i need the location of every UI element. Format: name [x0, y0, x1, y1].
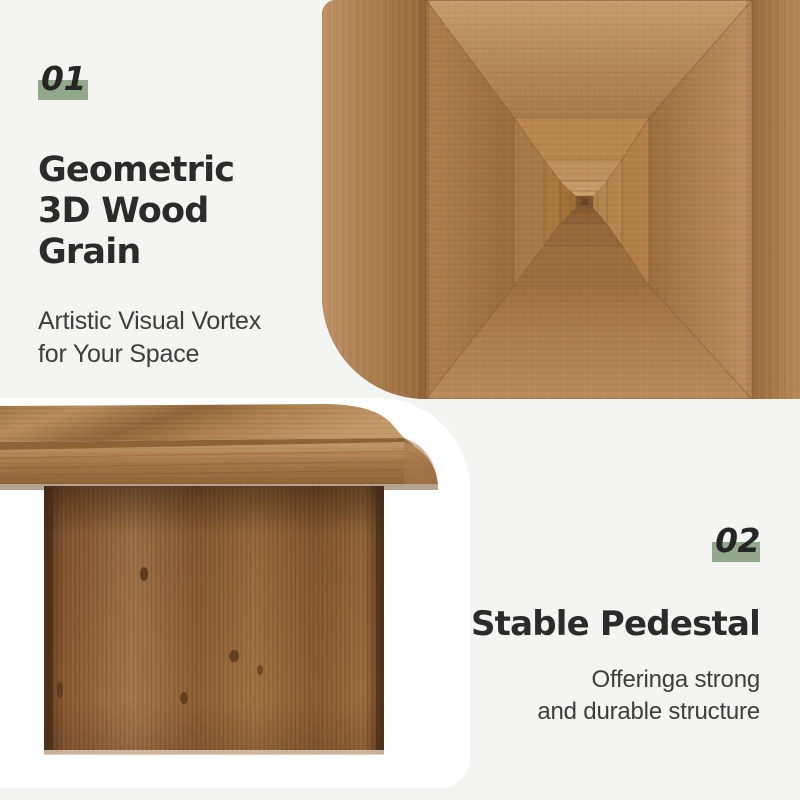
- feature-01-subtitle-line2: for Your Space: [38, 340, 199, 368]
- feature-02-number-badge: 02: [712, 520, 760, 568]
- feature-02-number: 02: [712, 520, 760, 562]
- geometric-wood-grain-panel-photo: [322, 0, 800, 399]
- pedestal-base-table-photo: [0, 398, 470, 788]
- feature-01-text-block: 01 Geometric 3D Wood Grain Artistic Visu…: [38, 58, 318, 371]
- feature-02-title-line1: Stable Pedestal: [471, 604, 760, 644]
- feature-01-title-line1: Geometric: [38, 150, 234, 190]
- feature-02-subtitle-line1: Offeringa strong: [592, 666, 760, 693]
- wood-vortex-illustration: [322, 0, 800, 399]
- promo-page: 01 Geometric 3D Wood Grain Artistic Visu…: [0, 0, 800, 800]
- feature-01-subtitle: Artistic Visual Vortex for Your Space: [38, 305, 318, 371]
- feature-02-subtitle: Offeringa strong and durable structure: [450, 664, 760, 728]
- feature-02-subtitle-line2: and durable structure: [537, 698, 760, 725]
- feature-02-title: Stable Pedestal: [450, 604, 760, 644]
- feature-01-subtitle-line1: Artistic Visual Vortex: [38, 307, 261, 335]
- feature-02-text-block: 02 Stable Pedestal Offeringa strong and …: [450, 520, 760, 728]
- feature-01-title: Geometric 3D Wood Grain: [38, 150, 318, 273]
- feature-01-number-badge: 01: [38, 58, 86, 108]
- feature-01-number: 01: [38, 58, 86, 100]
- pedestal-table-illustration: [0, 398, 470, 788]
- feature-01-title-line2: 3D Wood Grain: [38, 191, 209, 272]
